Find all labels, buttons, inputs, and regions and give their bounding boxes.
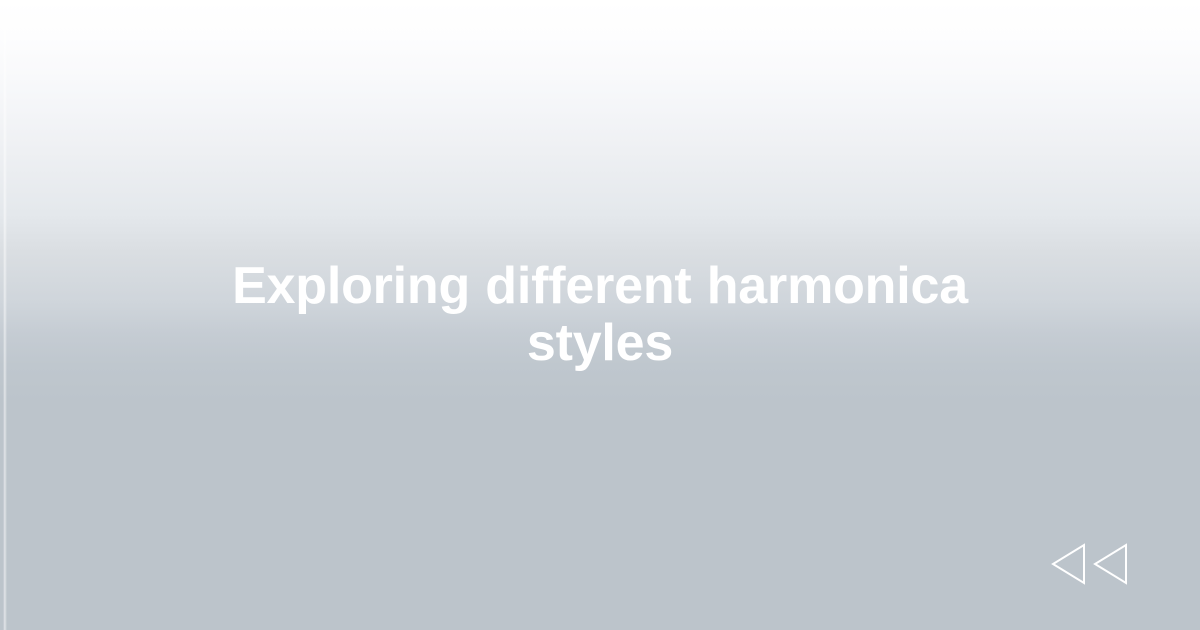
- rewind-double-left-triangle-icon: [1050, 542, 1130, 586]
- hero-title-container: Exploring different harmonica styles: [0, 0, 1200, 630]
- page-title: Exploring different harmonica styles: [220, 258, 980, 372]
- rewind-button[interactable]: [1050, 542, 1130, 586]
- share-card: Exploring different harmonica styles: [0, 0, 1200, 630]
